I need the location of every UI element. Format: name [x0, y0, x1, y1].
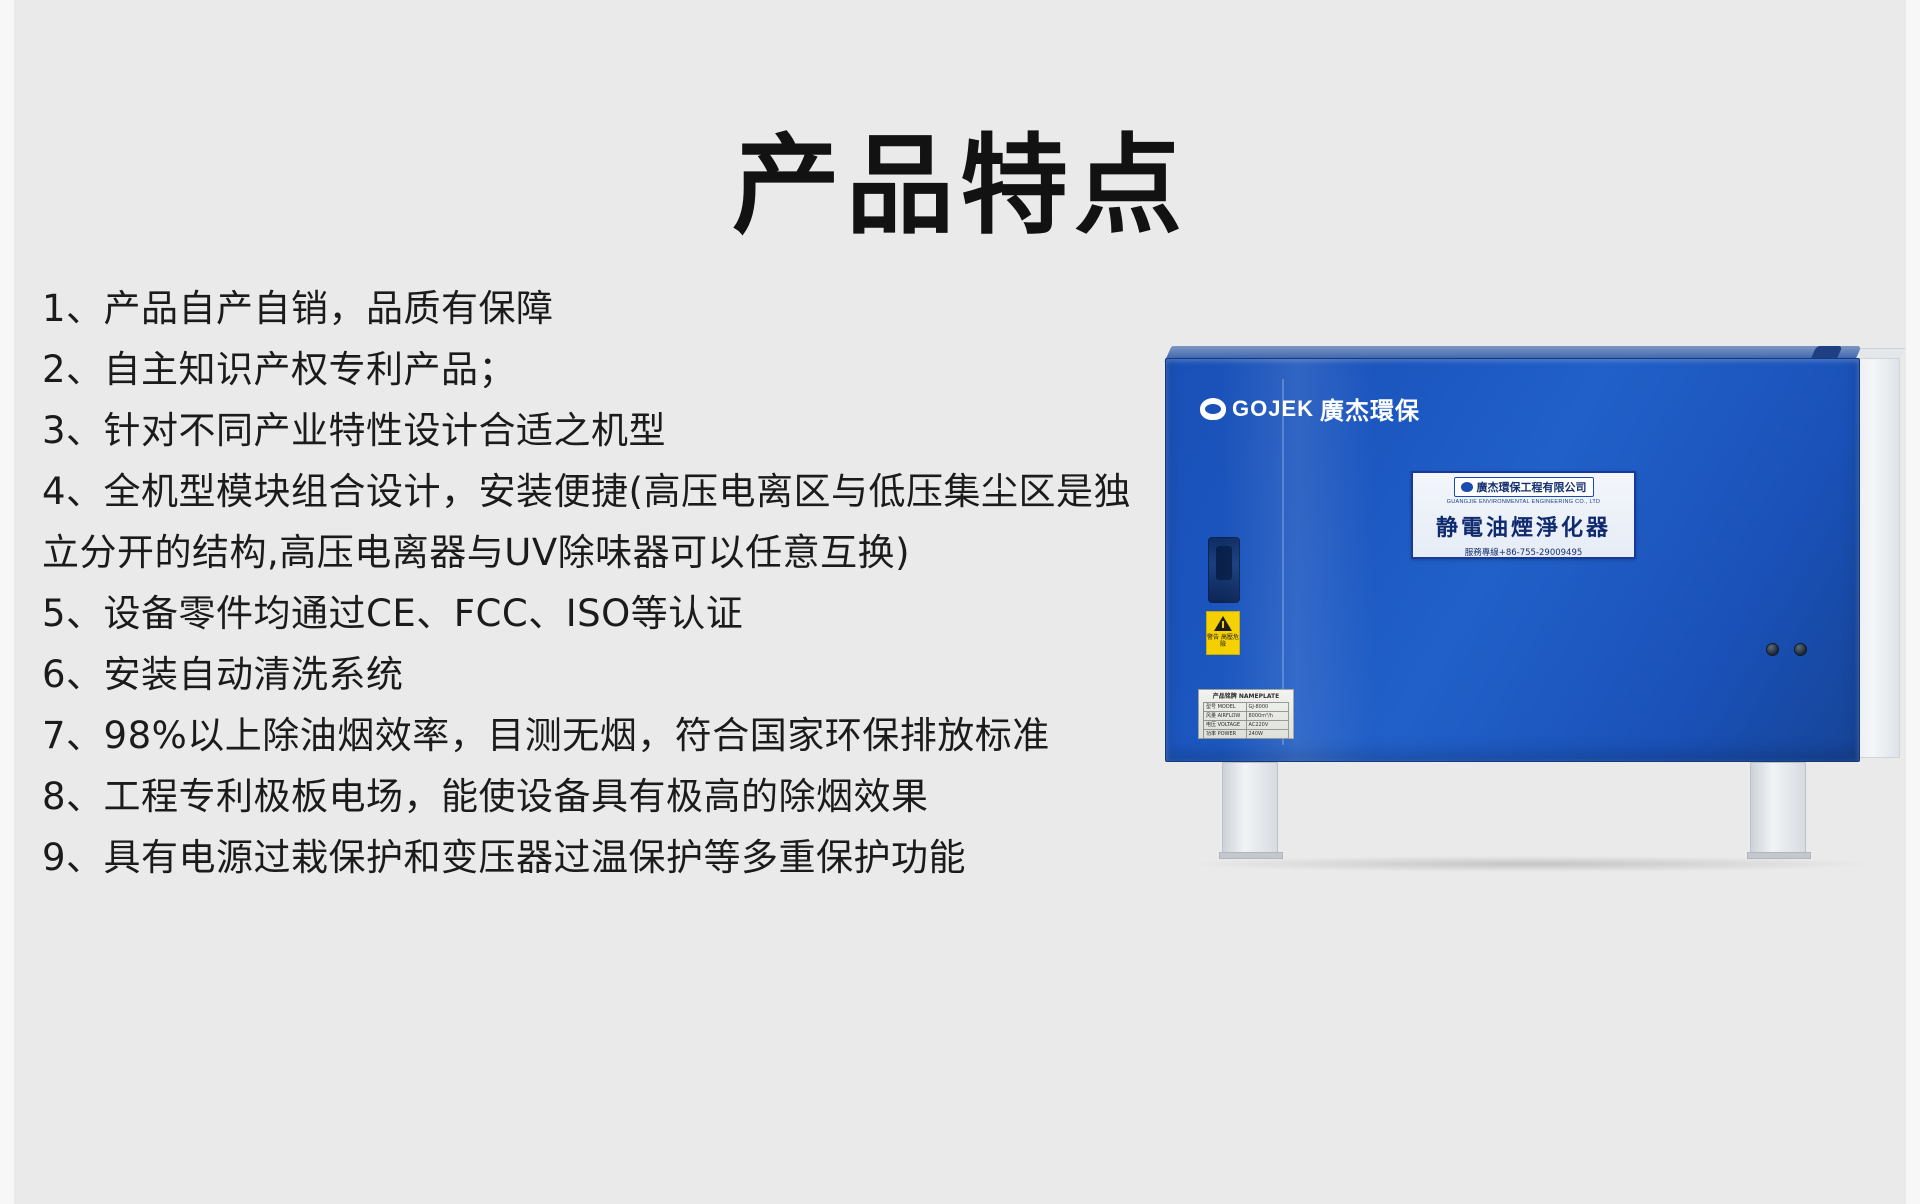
nameplate-brand-icon — [1461, 482, 1473, 492]
support-leg-right — [1750, 762, 1806, 854]
door-handle[interactable] — [1208, 537, 1240, 603]
page-title: 产品特点 — [0, 127, 1920, 248]
feature-item-5: 5、设备零件均通过CE、FCC、ISO等认证 — [42, 583, 1332, 644]
panel-bolt-icon — [1766, 643, 1779, 656]
feature-list: 1、产品自产自销，品质有保障 2、自主知识产权专利产品； 3、针对不同产业特性设… — [42, 278, 1332, 888]
panel-bolt-icon — [1794, 643, 1807, 656]
nameplate-company-en: GUANGJIE ENVIRONMENTAL ENGINEERING CO., … — [1447, 499, 1601, 505]
spec-cell: 功率 POWER — [1204, 730, 1247, 739]
nameplate-product-name: 静電油煙淨化器 — [1436, 510, 1611, 542]
spec-cell: GJ-8000 — [1247, 703, 1290, 712]
nameplate-company-row: 廣杰環保工程有限公司 — [1454, 477, 1594, 497]
spec-plate-grid: 型号 MODEL GJ-8000 风量 AIRFLOW 8000m³/h 电压 … — [1203, 702, 1289, 739]
product-nameplate: 廣杰環保工程有限公司 GUANGJIE ENVIRONMENTAL ENGINE… — [1411, 471, 1636, 559]
cabinet-top-nub — [1811, 346, 1842, 358]
brand-logo: GOJEK 廣杰環保 — [1200, 391, 1420, 426]
spec-plate-title: 产品铭牌 NAMEPLATE — [1203, 693, 1289, 700]
spec-plate: 产品铭牌 NAMEPLATE 型号 MODEL GJ-8000 风量 AIRFL… — [1198, 689, 1294, 739]
feature-item-1: 1、产品自产自销，品质有保障 — [42, 278, 1332, 339]
feature-item-4: 4、全机型模块组合设计，安装便捷(高压电离区与低压集尘区是独立分开的结构,高压电… — [42, 461, 1142, 583]
spec-cell: 240W — [1247, 730, 1290, 739]
spec-cell: 8000m³/h — [1247, 712, 1290, 721]
feature-item-7: 7、98%以上除油烟效率，目测无烟，符合国家环保排放标准 — [42, 705, 1332, 766]
product-photo: GOJEK 廣杰環保 警告 高壓危險 产品铭牌 NAMEPLATE 型号 MOD… — [1150, 340, 1890, 900]
feature-item-6: 6、安装自动清洗系统 — [42, 644, 1332, 705]
nameplate-company-cn: 廣杰環保工程有限公司 — [1477, 479, 1587, 495]
support-leg-left — [1222, 762, 1278, 854]
spec-cell: 风量 AIRFLOW — [1204, 712, 1247, 721]
warning-label-text: 警告 高壓危險 — [1207, 634, 1239, 648]
brand-cjk-text: 廣杰環保 — [1320, 391, 1420, 426]
brand-swoosh-icon — [1200, 398, 1226, 420]
spec-cell: 型号 MODEL — [1204, 703, 1247, 712]
feature-item-3: 3、针对不同产业特性设计合适之机型 — [42, 400, 1332, 461]
nameplate-hotline: 服務專線+86-755-29009495 — [1465, 546, 1583, 558]
warning-label: 警告 高壓危險 — [1206, 611, 1240, 655]
feature-item-9: 9、具有电源过栽保护和变压器过温保护等多重保护功能 — [42, 827, 1332, 888]
ground-shadow — [1190, 856, 1870, 872]
brand-latin-text: GOJEK — [1232, 396, 1314, 422]
feature-item-8: 8、工程专利极板电场，能使设备具有极高的除烟效果 — [42, 766, 1332, 827]
spec-cell: AC220V — [1247, 721, 1290, 730]
feature-item-2: 2、自主知识产权专利产品； — [42, 339, 1332, 400]
spec-cell: 电压 VOLTAGE — [1204, 721, 1247, 730]
cabinet-body: GOJEK 廣杰環保 警告 高壓危險 产品铭牌 NAMEPLATE 型号 MOD… — [1165, 358, 1860, 762]
warning-triangle-icon — [1214, 616, 1232, 631]
